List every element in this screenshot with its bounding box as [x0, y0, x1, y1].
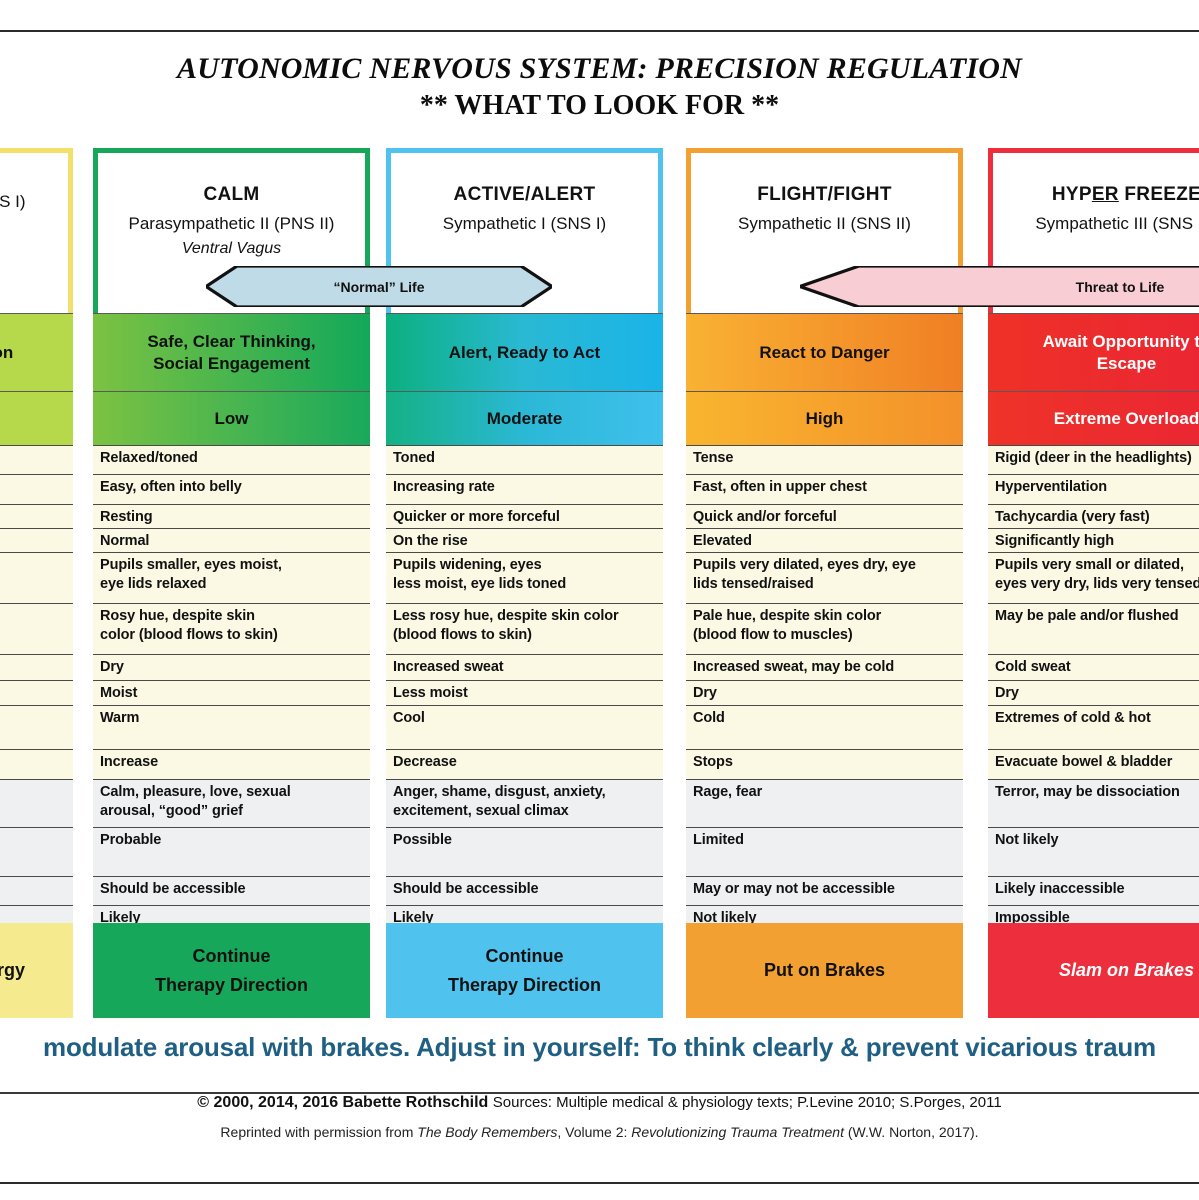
cell-heart: Tachycardia (very fast) [988, 505, 1199, 529]
cell-muscles: Tense [686, 445, 963, 475]
footer-copyright: © 2000, 2014, 2016 Babette Rothschild [197, 1094, 488, 1111]
description-text-hypo-freeze: ion [0, 342, 13, 364]
column-title-hyper-freeze: HYPER FREEZE [988, 184, 1199, 206]
cell-mouth [0, 681, 73, 706]
cell-heart: Quick and/or forceful [686, 505, 963, 529]
level-text-hyper-freeze: Extreme Overload [1054, 409, 1199, 429]
cell-body-temp: Warm [93, 706, 370, 750]
cell-blood-pressure: Significantly high [988, 529, 1199, 553]
level-text-flight-fight: High [806, 409, 844, 429]
column-italic-calm: Ventral Vagus [93, 240, 370, 258]
cell-skin-color: Pale hue, despite skin color(blood flow … [686, 604, 963, 655]
cell-breathing: Increasing rate [386, 475, 663, 505]
column-subtitle-hyper-freeze: Sympathetic III (SNS III) [988, 214, 1199, 234]
cell-skin-color: May be pale and/or flushed [988, 604, 1199, 655]
footer-sources: Sources: Multiple medical & physiology t… [493, 1094, 1002, 1111]
cell-emotions: isgust [0, 780, 73, 828]
cell-emotions: Terror, may be dissociation [988, 780, 1199, 828]
cell-speech: Likely inaccessible [988, 877, 1199, 906]
reprint-post: (W.W. Norton, 2017). [844, 1124, 979, 1140]
action-band-flight-fight: Put on Brakes [686, 923, 963, 1018]
cell-body-temp: Cool [386, 706, 663, 750]
cell-heart [0, 505, 73, 529]
action-text-active-alert: ContinueTherapy Direction [448, 942, 601, 1000]
cells-hyper-freeze: Rigid (deer in the headlights) Hypervent… [988, 445, 1199, 935]
footer-blue-line: modulate arousal with brakes. Adjust in … [0, 1032, 1199, 1063]
action-text-flight-fight: Put on Brakes [764, 956, 885, 985]
cell-memory: Not likely [988, 828, 1199, 877]
cells-calm: Relaxed/toned Easy, often into belly Res… [93, 445, 370, 935]
footer-copyright-line: © 2000, 2014, 2016 Babette Rothschild So… [0, 1094, 1199, 1112]
title-part-hyp: HYP [1052, 184, 1092, 205]
level-text-calm: Low [215, 409, 249, 429]
cell-heart: Quicker or more forceful [386, 505, 663, 529]
cell-digestion: Decrease [386, 750, 663, 780]
action-text-calm: ContinueTherapy Direction [155, 942, 308, 1000]
level-band-hyper-freeze: Extreme Overload [988, 391, 1199, 445]
description-band-flight-fight: React to Danger [686, 313, 963, 391]
cell-skin-color [0, 604, 73, 655]
cell-emotions: Rage, fear [686, 780, 963, 828]
cell-eyes: e heavy [0, 553, 73, 604]
footer-reprint-line: Reprinted with permission from The Body … [0, 1124, 1199, 1140]
cell-body-temp [0, 706, 73, 750]
cell-digestion: Increase [93, 750, 370, 780]
cell-blood-pressure [0, 529, 73, 553]
column-subtitle-hypo-freeze: PNS I) [0, 192, 73, 212]
cell-body-temp: Extremes of cold & hot [988, 706, 1199, 750]
cell-eyes: Pupils smaller, eyes moist,eye lids rela… [93, 553, 370, 604]
cells-active-alert: Toned Increasing rate Quicker or more fo… [386, 445, 663, 935]
cell-muscles [0, 445, 73, 475]
action-band-hyper-freeze: Slam on Brakes [988, 923, 1199, 1018]
cell-mouth: Dry [988, 681, 1199, 706]
column-header-hypo-freeze: PNS I) [0, 148, 73, 308]
description-band-hypo-freeze: ion [0, 313, 73, 391]
cell-blood-pressure: On the rise [386, 529, 663, 553]
cell-speech: Should be accessible [93, 877, 370, 906]
normal-life-arrow-label: “Normal” Life [206, 279, 552, 295]
description-text-calm: Safe, Clear Thinking,Social Engagement [147, 331, 315, 375]
description-band-hyper-freeze: Await Opportunity toEscape [988, 313, 1199, 391]
cells-flight-fight: Tense Fast, often in upper chest Quick a… [686, 445, 963, 935]
action-text-hyper-freeze: Slam on Brakes [1059, 956, 1194, 985]
cell-digestion [0, 750, 73, 780]
footer: modulate arousal with brakes. Adjust in … [0, 1032, 1199, 1063]
cell-muscles: Relaxed/toned [93, 445, 370, 475]
column-subtitle-active-alert: Sympathetic I (SNS I) [386, 214, 663, 234]
column-subtitle-flight-fight: Sympathetic II (SNS II) [686, 214, 963, 234]
action-text-hypo-freeze: nergy [0, 956, 25, 985]
level-text-active-alert: Moderate [487, 409, 563, 429]
cell-memory: Limited [686, 828, 963, 877]
title-line-1: AUTONOMIC NERVOUS SYSTEM: PRECISION REGU… [0, 52, 1199, 86]
reprint-book-title: The Body Remembers [417, 1124, 557, 1140]
cell-digestion: Evacuate bowel & bladder [988, 750, 1199, 780]
level-band-calm: Low [93, 391, 370, 445]
cell-sweat: Increased sweat [386, 655, 663, 681]
reprint-mid: , Volume 2: [557, 1124, 631, 1140]
cell-sweat: Increased sweat, may be cold [686, 655, 963, 681]
cell-sweat: Cold sweat [988, 655, 1199, 681]
cell-eyes: Pupils very dilated, eyes dry, eyelids t… [686, 553, 963, 604]
description-text-flight-fight: React to Danger [759, 342, 889, 364]
action-band-calm: ContinueTherapy Direction [93, 923, 370, 1018]
cell-breathing: Easy, often into belly [93, 475, 370, 505]
cell-breathing: Hyperventilation [988, 475, 1199, 505]
column-title-active-alert: ACTIVE/ALERT [386, 184, 663, 206]
cell-eyes: Pupils very small or dilated,eyes very d… [988, 553, 1199, 604]
title-part-er: ER [1092, 184, 1119, 205]
cell-sweat: Dry [93, 655, 370, 681]
ans-chart-page: AUTONOMIC NERVOUS SYSTEM: PRECISION REGU… [0, 0, 1199, 1200]
cell-digestion: Stops [686, 750, 963, 780]
cell-skin-color: Less rosy hue, despite skin color(blood … [386, 604, 663, 655]
reprint-subtitle: Revolutionizing Trauma Treatment [631, 1124, 844, 1140]
cell-memory: Possible [386, 828, 663, 877]
cell-speech: sible [0, 877, 73, 906]
cell-eyes: Pupils widening, eyesless moist, eye lid… [386, 553, 663, 604]
column-subtitle-calm: Parasympathetic II (PNS II) [93, 214, 370, 234]
cell-emotions: Calm, pleasure, love, sexualarousal, “go… [93, 780, 370, 828]
top-divider [0, 30, 1199, 32]
cell-blood-pressure: Normal [93, 529, 370, 553]
cell-skin-color: Rosy hue, despite skincolor (blood flows… [93, 604, 370, 655]
cell-mouth: Moist [93, 681, 370, 706]
cell-breathing [0, 475, 73, 505]
cell-breathing: Fast, often in upper chest [686, 475, 963, 505]
description-text-hyper-freeze: Await Opportunity toEscape [1043, 331, 1199, 375]
cell-memory: Probable [93, 828, 370, 877]
column-title-calm: CALM [93, 184, 370, 206]
column-title-flight-fight: FLIGHT/FIGHT [686, 184, 963, 206]
cell-body-temp: Cold [686, 706, 963, 750]
description-text-active-alert: Alert, Ready to Act [449, 342, 600, 364]
cell-speech: May or may not be accessible [686, 877, 963, 906]
bottom-divider [0, 1182, 1199, 1184]
column-hypo-freeze[interactable]: PNS I) ion e heavy isgust [0, 148, 73, 1018]
cell-memory [0, 828, 73, 877]
level-band-active-alert: Moderate [386, 391, 663, 445]
cell-muscles: Toned [386, 445, 663, 475]
page-title: AUTONOMIC NERVOUS SYSTEM: PRECISION REGU… [0, 52, 1199, 122]
title-line-2: ** WHAT TO LOOK FOR ** [0, 90, 1199, 122]
action-band-active-alert: ContinueTherapy Direction [386, 923, 663, 1018]
description-band-active-alert: Alert, Ready to Act [386, 313, 663, 391]
cell-sweat [0, 655, 73, 681]
cell-heart: Resting [93, 505, 370, 529]
cell-mouth: Dry [686, 681, 963, 706]
cell-speech: Should be accessible [386, 877, 663, 906]
level-band-flight-fight: High [686, 391, 963, 445]
threat-to-life-arrow-label: Threat to Life [1050, 279, 1190, 295]
level-band-hypo-freeze [0, 391, 73, 445]
cell-blood-pressure: Elevated [686, 529, 963, 553]
description-band-calm: Safe, Clear Thinking,Social Engagement [93, 313, 370, 391]
cell-mouth: Less moist [386, 681, 663, 706]
reprint-pre: Reprinted with permission from [220, 1124, 417, 1140]
cells-hypo-freeze: e heavy isgust sible [0, 445, 73, 935]
title-part-freeze: FREEZE [1119, 184, 1199, 205]
action-band-hypo-freeze: nergy [0, 923, 73, 1018]
cell-emotions: Anger, shame, disgust, anxiety,excitemen… [386, 780, 663, 828]
cell-muscles: Rigid (deer in the headlights) [988, 445, 1199, 475]
